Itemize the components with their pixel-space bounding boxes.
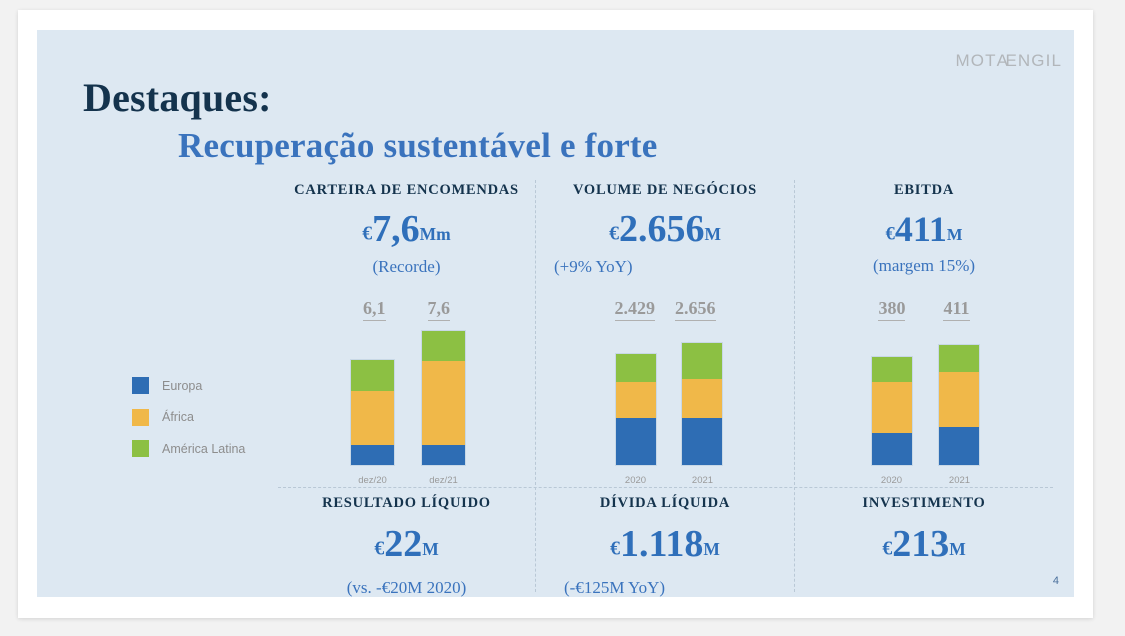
volume-bar-2021-segment-africa [682,379,722,417]
volume-number-2021: 2.656 [675,298,716,321]
ebitda-bar-2021-segment-africa [939,372,979,427]
kpi-volume-subtitle: (+9% YoY) [540,257,790,277]
kpi-divida-liquida-unit: M [703,539,720,559]
ebitda-bar-2020-segment-africa [872,382,912,433]
chart-carteira: dez/20 dez/21 [278,320,535,488]
kpi-divida-liquida-number: 1.118 [620,523,703,565]
kpi-resultado-liquido-label: RESULTADO LÍQUIDO [278,495,535,512]
ebitda-category-2020: 2020 [859,475,924,486]
carteira-category-2021: dez/21 [411,475,476,486]
legend-swatch-america-latina-icon [132,440,149,457]
kpi-investimento-unit: M [949,539,966,559]
kpi-carteira-value: €7,6Mm [278,210,535,248]
slide-canvas: MOTAENGIL Destaques: Recuperação sustent… [37,30,1074,597]
ebitda-category-2021: 2021 [927,475,992,486]
kpi-volume-label: VOLUME DE NEGÓCIOS [540,182,790,199]
volume-bar-2020-segment-europa [616,418,656,465]
kpi-carteira-subtitle: (Recorde) [278,257,535,277]
ebitda-number-2020: 380 [878,298,905,321]
legend-item-europa: Europa [132,370,245,402]
chart-volume: 2020 2021 [540,320,790,488]
ebitda-series-numbers: 380 411 [799,298,1049,321]
divider-vertical-2 [794,180,795,490]
kpi-ebitda: EBITDA €411M (margem 15%) [799,182,1049,276]
carteira-bar-2020-segment-africa [351,391,394,445]
volume-category-2020: 2020 [603,475,668,486]
carteira-bar-2021-segment-europa [422,445,465,465]
carteira-number-2021: 7,6 [428,298,451,321]
legend-item-america-latina: América Latina [132,433,245,465]
volume-series-numbers: 2.429 2.656 [540,298,790,321]
page-title: Destaques: [83,74,272,121]
divider-vertical-1 [535,180,536,490]
kpi-divida-liquida-subtitle: (-€125M YoY) [540,578,790,597]
kpi-resultado-liquido: RESULTADO LÍQUIDO €22M (vs. -€20M 2020) [278,495,535,597]
volume-number-2020: 2.429 [615,298,656,321]
kpi-volume: VOLUME DE NEGÓCIOS €2.656M (+9% YoY) [540,182,790,277]
volume-bar-2021-segment-america-latina [682,343,722,379]
legend-label-europa: Europa [162,379,202,393]
kpi-carteira-label: CARTEIRA DE ENCOMENDAS [278,182,535,199]
kpi-resultado-liquido-unit: M [422,539,439,559]
volume-category-2021: 2021 [670,475,735,486]
ebitda-bar-2021-segment-europa [939,427,979,465]
kpi-divida-liquida: DÍVIDA LÍQUIDA €1.118M (-€125M YoY) [540,495,790,597]
legend-label-africa: África [162,410,194,424]
kpi-investimento: INVESTIMENTO €213M [799,495,1049,578]
divider-vertical-4 [794,487,795,592]
legend-swatch-africa-icon [132,409,149,426]
kpi-ebitda-currency: € [886,224,895,245]
legend-item-africa: África [132,402,245,434]
logo-text-part-1: MOT [956,51,997,70]
slide-frame: MOTAENGIL Destaques: Recuperação sustent… [18,10,1093,618]
carteira-bar-2020 [350,359,395,466]
ebitda-number-2021: 411 [943,298,969,321]
kpi-resultado-liquido-subtitle: (vs. -€20M 2020) [278,578,535,597]
volume-bar-2020 [615,353,657,466]
logo-text-part-3: E [1005,51,1017,70]
ebitda-bar-2021-segment-america-latina [939,345,979,372]
kpi-resultado-liquido-number: 22 [384,523,422,565]
ebitda-bar-2020 [871,356,913,466]
kpi-volume-value: €2.656M [540,210,790,248]
page-subtitle: Recuperação sustentável e forte [178,126,658,166]
logo-text-part-4: NGIL [1018,51,1062,70]
chart-legend: Europa África América Latina [132,370,245,465]
carteira-series-numbers: 6,1 7,6 [278,298,535,321]
volume-bar-2020-segment-africa [616,382,656,418]
mota-engil-logo: MOTAENGIL [956,51,1062,71]
carteira-bar-2021-segment-america-latina [422,331,465,361]
kpi-ebitda-number: 411 [895,209,947,249]
kpi-investimento-currency: € [882,537,892,559]
ebitda-bar-2020-segment-europa [872,433,912,465]
kpi-investimento-value: €213M [799,525,1049,563]
kpi-divida-liquida-currency: € [610,537,620,559]
kpi-resultado-liquido-currency: € [374,537,384,559]
kpi-volume-number: 2.656 [619,208,705,250]
carteira-bar-2020-segment-america-latina [351,360,394,391]
divider-vertical-3 [535,487,536,592]
kpi-ebitda-subtitle: (margem 15%) [799,256,1049,276]
legend-label-america-latina: América Latina [162,442,245,456]
kpi-volume-currency: € [609,222,619,244]
kpi-volume-unit: M [704,224,721,244]
legend-swatch-europa-icon [132,377,149,394]
carteira-number-2020: 6,1 [363,298,386,321]
volume-bar-2021-segment-europa [682,418,722,465]
kpi-carteira-currency: € [362,222,372,244]
kpi-ebitda-label: EBITDA [799,182,1049,199]
carteira-category-2020: dez/20 [340,475,405,486]
kpi-divida-liquida-label: DÍVIDA LÍQUIDA [540,495,790,512]
kpi-investimento-number: 213 [892,523,949,565]
kpi-resultado-liquido-value: €22M [278,525,535,563]
kpi-ebitda-unit: M [947,225,963,244]
carteira-bar-2021 [421,330,466,466]
kpi-carteira: CARTEIRA DE ENCOMENDAS €7,6Mm (Recorde) [278,182,535,277]
kpi-carteira-number: 7,6 [372,208,420,250]
kpi-ebitda-value: €411M [799,211,1049,247]
volume-bar-2020-segment-america-latina [616,354,656,382]
page-number: 4 [1053,575,1059,587]
ebitda-bar-2020-segment-america-latina [872,357,912,382]
chart-ebitda: 2020 2021 [799,320,1049,488]
carteira-bar-2021-segment-africa [422,361,465,446]
volume-bar-2021 [681,342,723,466]
kpi-carteira-unit: Mm [420,224,451,244]
carteira-bar-2020-segment-europa [351,445,394,465]
kpi-divida-liquida-value: €1.118M [540,525,790,563]
kpi-investimento-label: INVESTIMENTO [799,495,1049,512]
ebitda-bar-2021 [938,344,980,466]
